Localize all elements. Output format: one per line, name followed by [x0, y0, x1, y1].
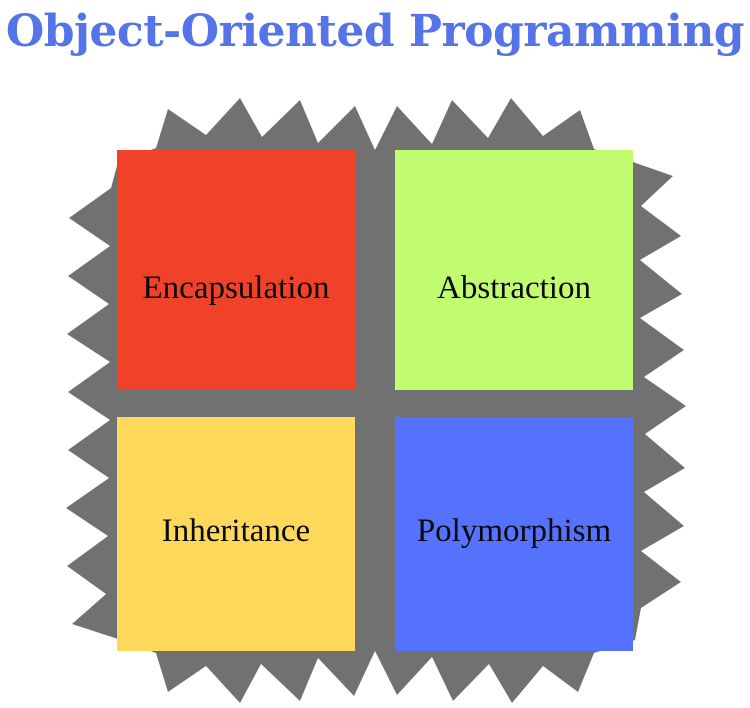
- quadrant-grid: Encapsulation Abstraction Inheritance Po…: [117, 150, 633, 651]
- quadrant-label-polymorphism: Polymorphism: [417, 515, 611, 548]
- quadrant-abstraction[interactable]: Abstraction: [395, 150, 633, 390]
- quadrant-polymorphism[interactable]: Polymorphism: [395, 417, 633, 651]
- quadrant-label-abstraction: Abstraction: [437, 272, 591, 305]
- quadrant-inheritance[interactable]: Inheritance: [117, 417, 355, 651]
- oop-diagram: Encapsulation Abstraction Inheritance Po…: [0, 88, 750, 708]
- quadrant-label-inheritance: Inheritance: [162, 515, 310, 548]
- quadrant-label-encapsulation: Encapsulation: [143, 272, 330, 305]
- quadrant-encapsulation[interactable]: Encapsulation: [117, 150, 355, 390]
- page-title: Object-Oriented Programming: [0, 6, 750, 57]
